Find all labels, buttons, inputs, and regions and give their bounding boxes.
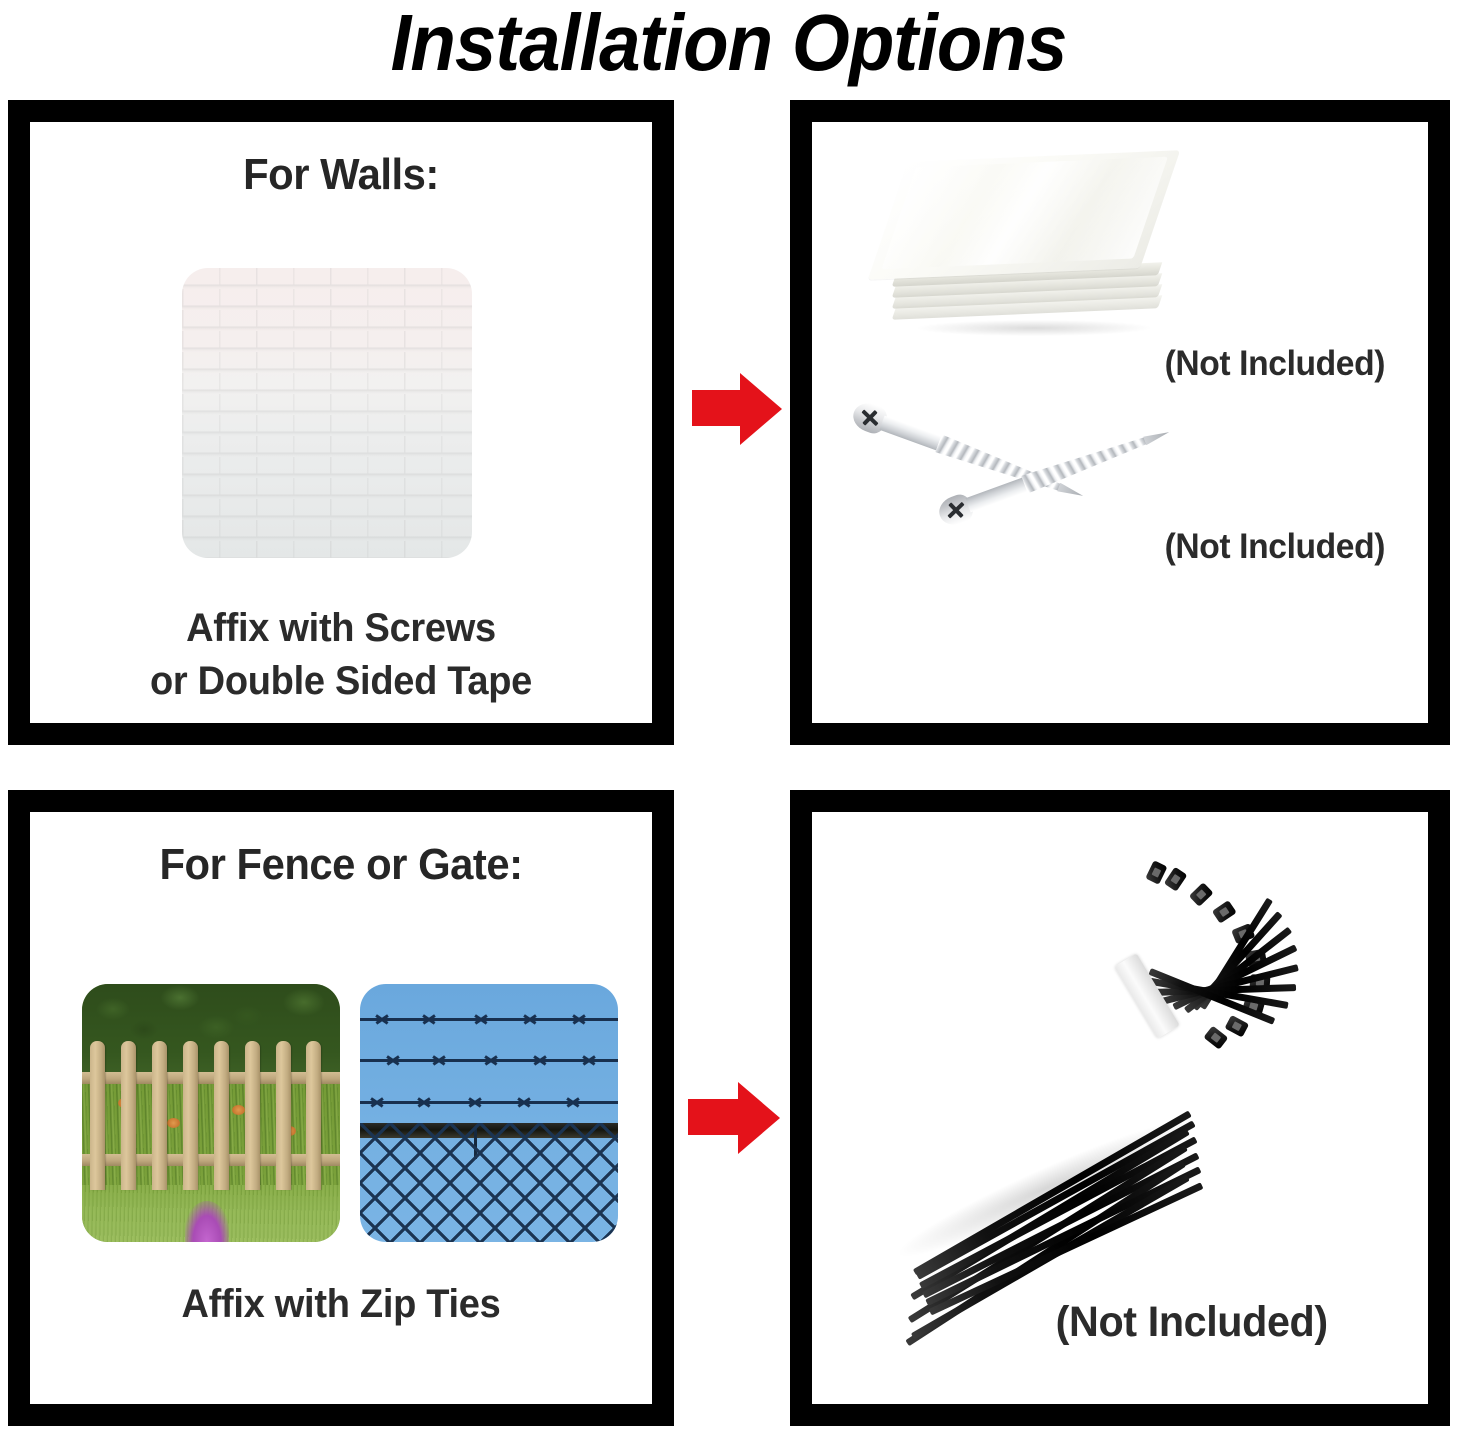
panel-for-fence-or-gate: For Fence or Gate: — [8, 790, 674, 1426]
panel-wall-hardware: (Not Included) (Not Included) — [790, 100, 1450, 745]
for-walls-caption-line2: or Double Sided Tape — [46, 655, 637, 708]
white-brick-wall-image — [182, 268, 472, 558]
zip-ties-not-included-label: (Not Included) — [1056, 1298, 1328, 1347]
wooden-picket-fence-image — [82, 984, 340, 1242]
screws-not-included-label: (Not Included) — [1165, 527, 1385, 567]
for-walls-heading: For Walls: — [46, 150, 637, 200]
tape-not-included-label: (Not Included) — [1165, 344, 1385, 384]
black-zip-ties-bundle-image — [852, 848, 1382, 1268]
page-title: Installation Options — [51, 0, 1406, 86]
panel-for-walls: For Walls: Affix with Screws or Double S… — [8, 100, 674, 745]
for-walls-caption-line1: Affix with Screws — [46, 602, 637, 655]
for-fence-caption: Affix with Zip Ties — [46, 1278, 637, 1331]
for-walls-caption: Affix with Screws or Double Sided Tape — [46, 602, 637, 708]
panel-zip-ties-hardware: (Not Included) — [790, 790, 1450, 1426]
double-sided-tape-stack-image — [882, 156, 1172, 341]
for-fence-heading: For Fence or Gate: — [46, 840, 637, 890]
chain-link-fence-image — [360, 984, 618, 1242]
